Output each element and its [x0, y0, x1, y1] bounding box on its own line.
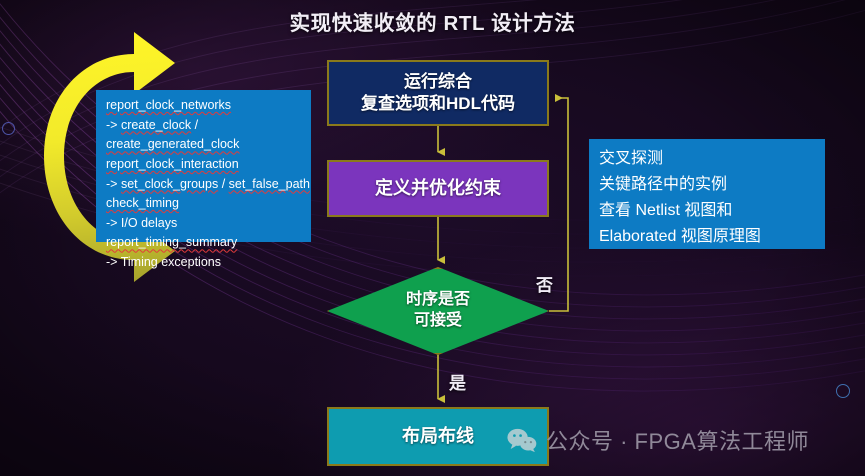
- run-synthesis-line-1: 运行综合: [404, 71, 472, 93]
- run-synthesis-node: 运行综合 复查选项和HDL代码: [327, 60, 549, 126]
- run-synthesis-line-2: 复查选项和HDL代码: [361, 93, 515, 115]
- command-line-7: -> I/O delays: [106, 214, 303, 234]
- timing-acceptable-decision: 时序是否 可接受: [327, 267, 549, 355]
- command-line-9: -> Timing exceptions: [106, 253, 303, 273]
- crossprobe-line-2: 关键路径中的实例: [599, 172, 823, 198]
- decor-circle-left: [2, 122, 15, 135]
- watermark-text: 公众号 · FPGA算法工程师: [546, 424, 809, 456]
- decision-line-2: 可接受: [414, 311, 462, 332]
- decision-line-1: 时序是否: [406, 290, 470, 311]
- crossprobe-line-3: 查看 Netlist 视图和: [599, 198, 823, 224]
- edge-label-yes: 是: [449, 369, 466, 394]
- decor-circle-right: [836, 384, 850, 398]
- command-line-8: report_timing_summary: [106, 233, 303, 253]
- command-line-2: -> create_clock /: [106, 116, 303, 136]
- command-line-3: create_generated_clock: [106, 135, 303, 155]
- place-and-route-label: 布局布线: [402, 425, 474, 448]
- define-optimize-constraints-node: 定义并优化约束: [327, 160, 549, 217]
- cross-probing-panel: 交叉探测 关键路径中的实例 查看 Netlist 视图和 Elaborated …: [589, 139, 825, 249]
- crossprobe-line-4: Elaborated 视图原理图: [599, 224, 823, 250]
- crossprobe-line-1: 交叉探测: [599, 146, 823, 172]
- slide-canvas: 实现快速收敛的 RTL 设计方法: [0, 0, 865, 476]
- command-line-6: check_timing: [106, 194, 303, 214]
- watermark: 公众号 · FPGA算法工程师: [507, 424, 809, 456]
- command-line-4: report_clock_interaction: [106, 155, 303, 175]
- decision-label: 时序是否 可接受: [327, 267, 549, 355]
- timing-commands-panel: report_clock_networks -> create_clock / …: [96, 90, 311, 242]
- command-line-5: -> set_clock_groups / set_false_path: [106, 175, 303, 195]
- command-line-1: report_clock_networks: [106, 96, 303, 116]
- constraints-label: 定义并优化约束: [375, 177, 501, 200]
- edge-label-no: 否: [536, 271, 553, 296]
- wechat-icon: [507, 427, 537, 453]
